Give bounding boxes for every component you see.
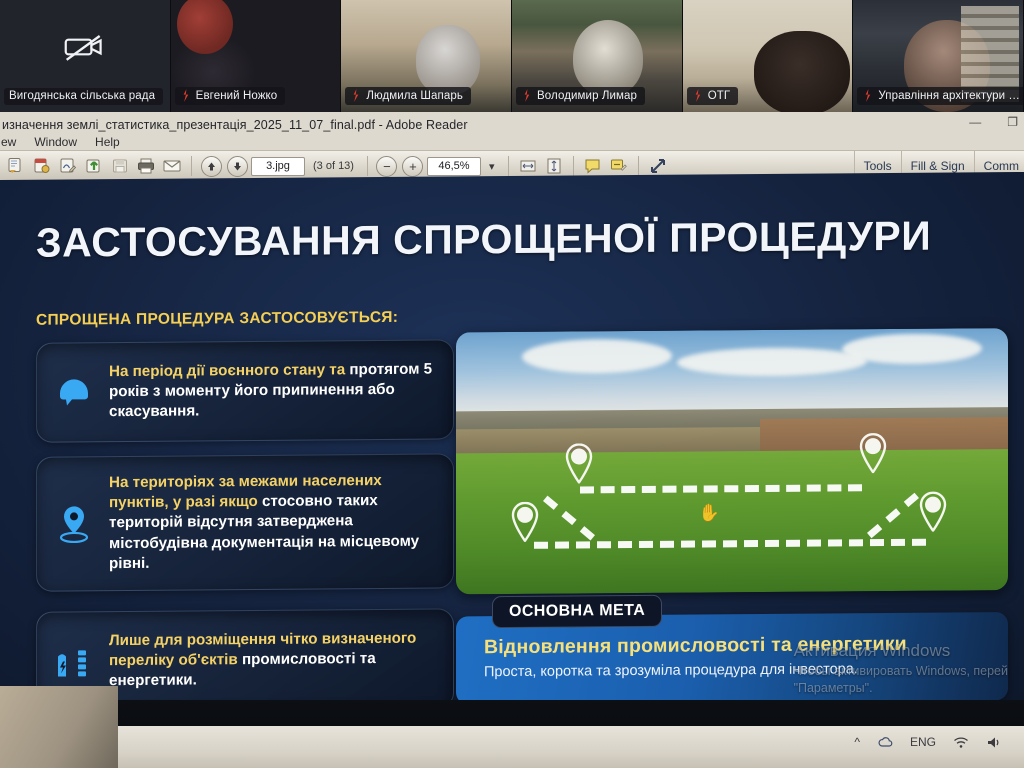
hand-cursor-icon: ✋ (699, 503, 720, 523)
toolbar-divider (573, 156, 574, 176)
video-tile[interactable]: Управління архітектури та … (853, 0, 1024, 112)
map-pin-icon (858, 433, 888, 473)
print-icon[interactable] (134, 155, 158, 177)
participant-name-badge: Людмила Шапарь (345, 87, 471, 105)
zoom-level-input[interactable]: 46,5% (427, 157, 481, 176)
page-number-input[interactable]: 3.jpg (251, 157, 305, 176)
goal-badge: ОСНОВНА МЕТА (492, 595, 662, 628)
previous-page-button[interactable] (199, 155, 223, 177)
video-conference-strip: Вигодянська сільська рада Евгений Ножко … (0, 0, 1024, 112)
participant-name: Управління архітектури та … (878, 90, 1021, 102)
zoom-logo-icon (692, 89, 703, 102)
map-pin-icon (564, 443, 594, 483)
screen: Вигодянська сільська рада Евгений Ножко … (0, 0, 1024, 768)
onedrive-icon[interactable] (877, 735, 893, 749)
toolbar-divider (638, 156, 639, 176)
condition-card-2-text: На територіях за межами населених пункті… (109, 471, 437, 575)
show-hidden-icons-chevron-icon[interactable]: ^ (854, 735, 860, 749)
save-icon[interactable] (108, 155, 132, 177)
toolbar-divider (508, 156, 509, 176)
menu-item-view[interactable]: ew (1, 135, 16, 149)
condition-card-2: На територіях за межами населених пункті… (36, 453, 454, 591)
menu-bar: ew Window Help (0, 134, 120, 150)
window-title: изначення землі_статистика_презентація_2… (0, 114, 1024, 136)
zoom-logo-icon (350, 89, 361, 102)
participant-name-badge: Вигодянська сільська рада (4, 88, 163, 105)
system-tray: ^ ENG (854, 735, 1002, 749)
plus-icon: + (402, 156, 423, 177)
volume-icon[interactable] (986, 736, 1002, 749)
zoom-logo-icon (180, 89, 191, 102)
zoom-logo-icon (521, 89, 532, 102)
field-photo-with-boundary-pins: ✋ (456, 328, 1008, 594)
fullscreen-icon[interactable] (646, 155, 670, 177)
goal-text: Проста, коротка та зрозуміла процедура д… (484, 660, 990, 680)
participant-name: Вигодянська сільська рада (9, 90, 155, 102)
language-indicator[interactable]: ENG (910, 735, 936, 749)
stamp-icon[interactable] (607, 155, 631, 177)
participant-name-badge: Управління архітектури та … (857, 87, 1024, 105)
participant-name: ОТГ (708, 90, 731, 102)
minus-icon: − (376, 156, 397, 177)
export-icon[interactable] (82, 155, 106, 177)
map-pin-icon (53, 503, 95, 545)
condition-card-1-highlight: На період дії воєнного стану та (109, 361, 345, 380)
toolbar-divider (367, 156, 368, 176)
condition-card-1: На період дії воєнного стану та протягом… (36, 339, 454, 442)
goal-title: Відновлення промисловості та енергетики (484, 632, 990, 659)
save-a-copy-icon[interactable] (4, 155, 28, 177)
video-tile[interactable]: Людмила Шапарь (341, 0, 512, 112)
video-tile[interactable]: Евгений Ножко (171, 0, 342, 112)
helmet-icon (53, 371, 95, 413)
participant-name: Володимир Лимар (537, 90, 637, 102)
secure-icon[interactable] (30, 155, 54, 177)
email-icon[interactable] (160, 155, 184, 177)
participant-name: Людмила Шапарь (366, 90, 463, 102)
window-controls: — ❐ (969, 116, 1018, 128)
participant-name-badge: ОТГ (687, 87, 739, 105)
zoom-out-button[interactable]: − (375, 155, 399, 177)
toolbar-divider (191, 156, 192, 176)
minimize-button[interactable]: — (969, 116, 981, 128)
sign-icon[interactable] (56, 155, 80, 177)
chevron-down-icon[interactable]: ▾ (483, 160, 501, 173)
restore-button[interactable]: ❐ (1007, 116, 1018, 128)
menu-item-help[interactable]: Help (95, 135, 120, 149)
section-subtitle: СПРОЩЕНА ПРОЦЕДУРА ЗАСТОСОВУЄТЬСЯ: (36, 309, 398, 330)
camera-off-icon (63, 30, 107, 64)
next-page-button[interactable] (225, 155, 249, 177)
fit-page-icon[interactable] (542, 155, 566, 177)
wifi-icon[interactable] (953, 736, 969, 749)
participant-name: Евгений Ножко (196, 90, 278, 102)
zoom-in-button[interactable]: + (401, 155, 425, 177)
video-tile[interactable]: ОТГ (683, 0, 854, 112)
condition-card-3-text: Лише для розміщення чітко визначеного пе… (109, 628, 437, 691)
pdf-slide-page: ЗАСТОСУВАННЯ СПРОЩЕНОЇ ПРОЦЕДУРИ СПРОЩЕН… (0, 172, 1024, 725)
power-plant-icon (53, 640, 95, 682)
adobe-reader-window: изначення землі_статистика_презентація_2… (0, 112, 1024, 180)
page-count-label: (3 of 13) (307, 160, 360, 172)
comment-icon[interactable] (581, 155, 605, 177)
video-tile[interactable]: Володимир Лимар (512, 0, 683, 112)
page-title: ЗАСТОСУВАННЯ СПРОЩЕНОЇ ПРОЦЕДУРИ (36, 213, 931, 267)
zoom-logo-icon (862, 89, 873, 102)
participant-name-badge: Евгений Ножко (175, 87, 286, 105)
condition-card-1-text: На період дії воєнного стану та протягом… (109, 359, 437, 422)
video-tile[interactable]: Вигодянська сільська рада (0, 0, 171, 112)
participant-name-badge: Володимир Лимар (516, 87, 645, 105)
menu-item-window[interactable]: Window (34, 135, 77, 149)
desk-surface (0, 686, 118, 768)
map-pin-icon (918, 492, 948, 532)
fit-width-icon[interactable] (516, 155, 540, 177)
map-pin-icon (510, 502, 540, 542)
